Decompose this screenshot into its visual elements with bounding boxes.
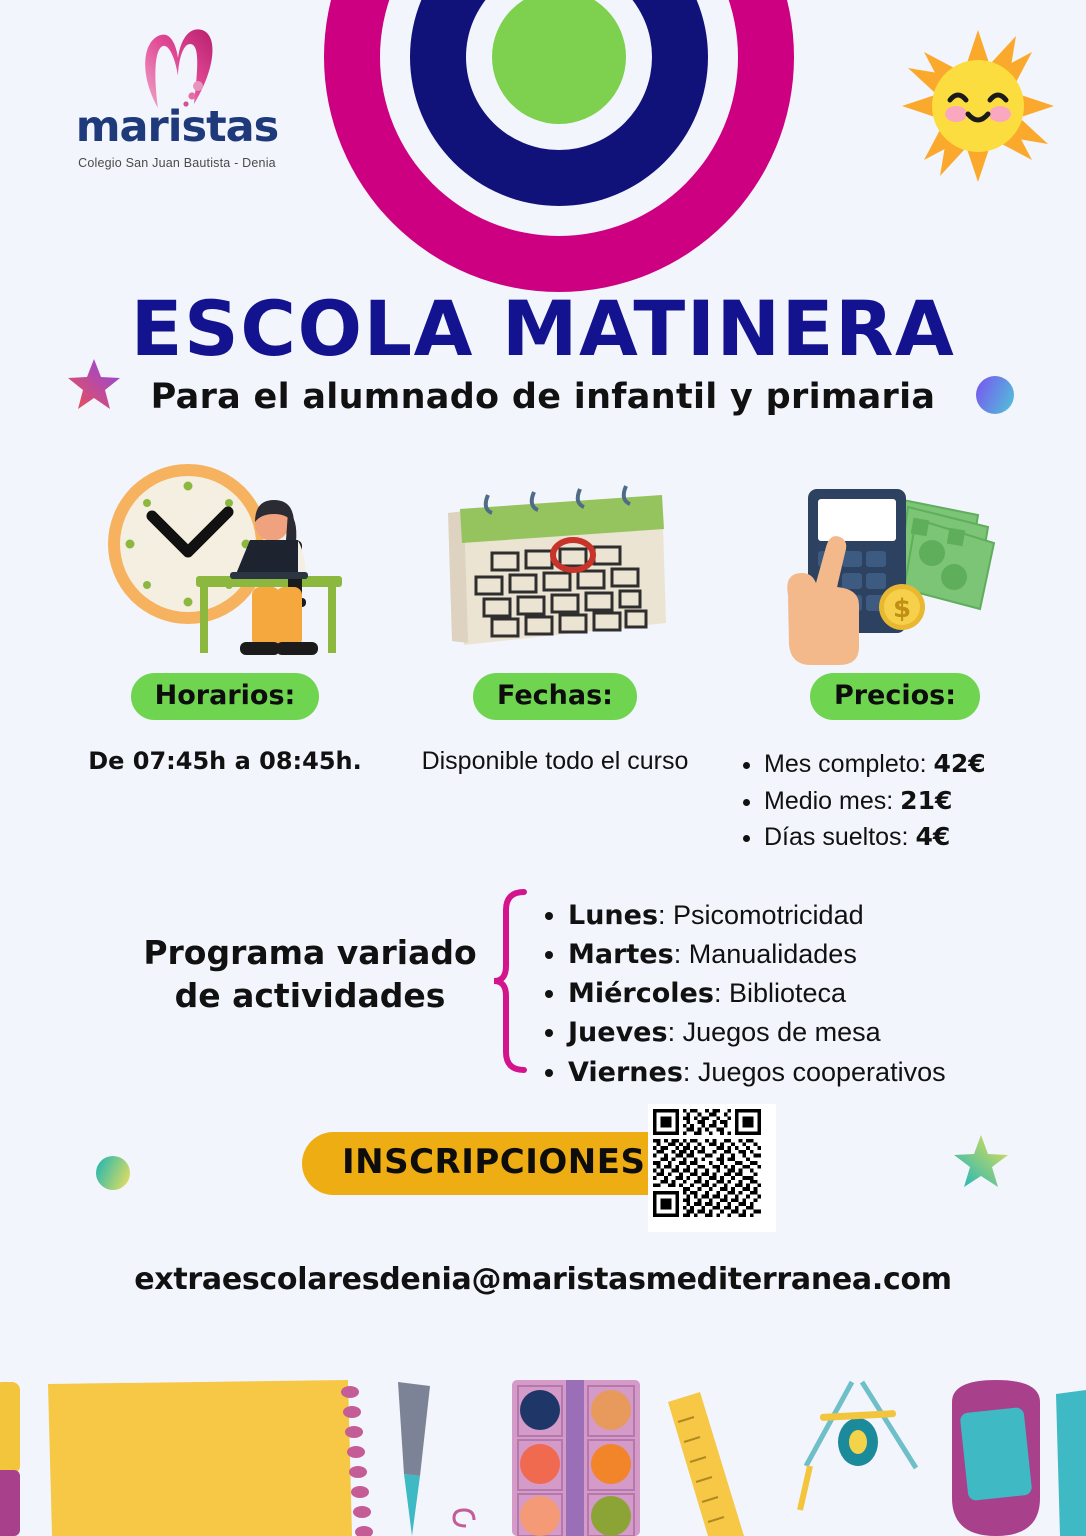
fechas-text: Disponible todo el curso <box>390 746 720 777</box>
column-fechas: Fechas: Disponible todo el curso <box>390 452 720 777</box>
watercolor-school-supplies-band <box>0 1346 1086 1536</box>
page-title: ESCOLA MATINERA <box>0 291 1086 367</box>
gradient-circle-teal-icon <box>96 1156 130 1190</box>
concentric-arcs-top <box>324 0 794 292</box>
price-label: Medio mes: <box>764 787 900 815</box>
price-list: Mes completo: 42€ Medio mes: 21€ Días su… <box>764 746 1060 856</box>
price-label: Días sueltos: <box>764 823 915 851</box>
badge-horarios: Horarios: <box>131 673 320 720</box>
clock-and-person-illustration <box>60 452 390 667</box>
badge-row-precios: Precios: <box>730 673 1060 720</box>
calendar-illustration <box>390 452 720 667</box>
programa-activity: : Manualidades <box>674 939 857 969</box>
badge-precios: Precios: <box>810 673 980 720</box>
price-label: Mes completo: <box>764 750 934 778</box>
badge-fechas: Fechas: <box>473 673 637 720</box>
column-horarios: Horarios: De 07:45h a 08:45h. <box>60 452 390 776</box>
gradient-star-green-icon <box>952 1132 1010 1190</box>
column-precios: $ Precios: Mes completo: 42€ Medio mes: … <box>730 452 1060 856</box>
list-item: Viernes: Juegos cooperativos <box>568 1053 946 1092</box>
list-item: Medio mes: 21€ <box>764 783 1060 820</box>
list-item: Lunes: Psicomotricidad <box>568 896 946 935</box>
page-subtitle: Para el alumnado de infantil y primaria <box>0 377 1086 417</box>
poster-root: maristas Colegio San Juan Bautista - Den… <box>0 0 1086 1536</box>
maristas-logo: maristas Colegio San Juan Bautista - Den… <box>62 24 292 176</box>
price-value: 21€ <box>900 786 952 815</box>
list-item: Jueves: Juegos de mesa <box>568 1013 946 1052</box>
maristas-heart-logo-icon <box>128 24 228 112</box>
badge-row-fechas: Fechas: <box>390 673 720 720</box>
programa-label-line1: Programa variado <box>120 932 500 975</box>
programa-section: Programa variado de actividades Lunes: P… <box>0 880 1086 1080</box>
programa-label-line2: de actividades <box>120 975 500 1018</box>
logo-wordmark: maristas <box>62 106 292 149</box>
smiling-sun-icon <box>898 26 1058 186</box>
list-item: Días sueltos: 4€ <box>764 819 1060 856</box>
inscriptions-qr-code[interactable] <box>648 1104 776 1232</box>
calculator-money-illustration: $ <box>730 452 1060 667</box>
curly-brace-icon <box>490 888 530 1074</box>
horarios-text: De 07:45h a 08:45h. <box>60 746 390 776</box>
programa-activity: : Biblioteca <box>714 978 846 1008</box>
programa-day: Lunes <box>568 900 658 931</box>
programa-activity: : Psicomotricidad <box>658 900 864 930</box>
svg-text:$: $ <box>893 594 911 624</box>
logo-subtitle: Colegio San Juan Bautista - Denia <box>62 156 292 170</box>
inscripciones-button[interactable]: INSCRIPCIONES <box>302 1132 685 1195</box>
price-value: 4€ <box>915 822 950 851</box>
programa-activity: : Juegos de mesa <box>668 1017 881 1047</box>
info-columns: Horarios: De 07:45h a 08:45h. <box>0 452 1086 852</box>
list-item: Miércoles: Biblioteca <box>568 974 946 1013</box>
programa-day: Martes <box>568 939 674 970</box>
programa-day: Viernes <box>568 1057 683 1088</box>
list-item: Mes completo: 42€ <box>764 746 1060 783</box>
list-item: Martes: Manualidades <box>568 935 946 974</box>
contact-email[interactable]: extraescolaresdenia@maristasmediterranea… <box>0 1262 1086 1297</box>
programa-day-list: Lunes: Psicomotricidad Martes: Manualida… <box>536 896 946 1092</box>
programa-day: Jueves <box>568 1017 668 1048</box>
programa-activity: : Juegos cooperativos <box>683 1057 946 1087</box>
programa-day: Miércoles <box>568 978 714 1009</box>
programa-label: Programa variado de actividades <box>120 932 500 1018</box>
badge-row-horarios: Horarios: <box>60 673 390 720</box>
price-value: 42€ <box>934 749 986 778</box>
